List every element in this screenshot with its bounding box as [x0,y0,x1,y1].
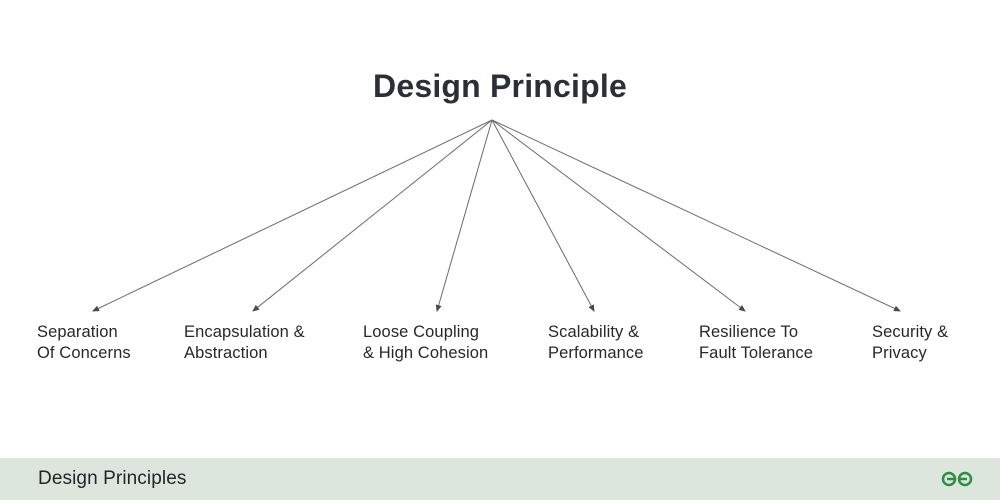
edge-to-leaf-2 [437,120,492,311]
diagram-canvas: Design Principle Separation Of Concerns … [0,0,1000,500]
geeksforgeeks-logo-icon [940,468,974,490]
edge-to-leaf-3 [492,120,594,311]
leaf-label-encapsulation-abstraction: Encapsulation & Abstraction [184,322,305,364]
leaf-label-security-privacy: Security & Privacy [872,322,948,364]
diagram-area: Design Principle Separation Of Concerns … [0,0,1000,458]
leaf-label-resilience-fault-tolerance: Resilience To Fault Tolerance [699,322,813,364]
edge-to-leaf-0 [93,120,492,311]
edge-to-leaf-4 [492,120,745,311]
edge-to-leaf-5 [492,120,900,311]
edges-layer [0,0,1000,458]
footer-bar: Design Principles [0,458,1000,500]
leaf-label-separation-of-concerns: Separation Of Concerns [37,322,131,364]
edge-to-leaf-1 [253,120,492,311]
footer-title: Design Principles [38,468,187,490]
leaf-label-loose-coupling-high-cohesion: Loose Coupling & High Cohesion [363,322,488,364]
leaf-label-scalability-performance: Scalability & Performance [548,322,644,364]
